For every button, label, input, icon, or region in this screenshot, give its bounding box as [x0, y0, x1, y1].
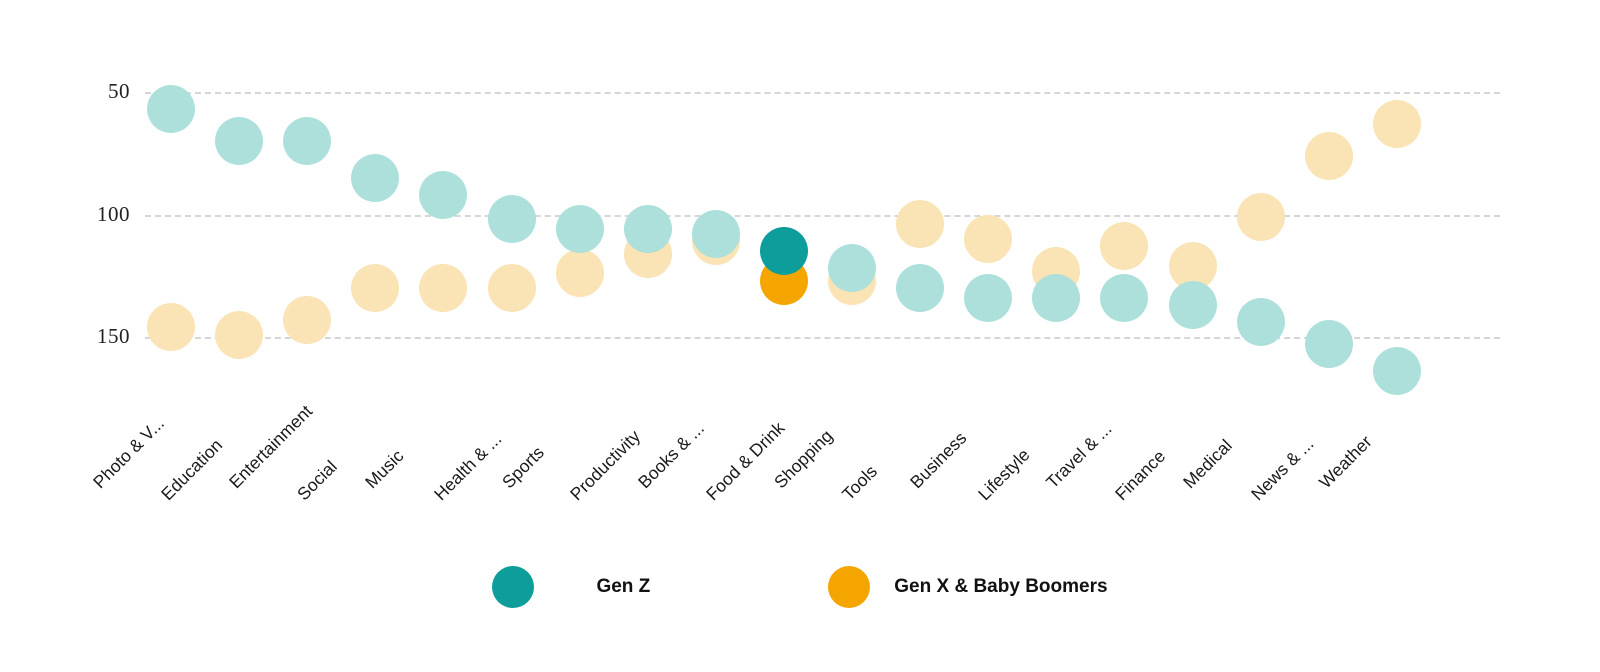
data-point-bubble[interactable] — [488, 264, 536, 312]
x-axis-tick-label: News & ... — [1247, 434, 1318, 505]
gridline — [145, 337, 1500, 339]
data-point-bubble[interactable] — [1100, 222, 1148, 270]
legend-swatch-icon — [828, 566, 870, 608]
data-point-bubble[interactable] — [896, 200, 944, 248]
x-axis-tick-label: Productivity — [566, 426, 645, 505]
x-axis-tick-label: Photo & V... — [89, 413, 169, 493]
bubble-chart: 15010050 Photo & V...EducationEntertainm… — [0, 0, 1600, 672]
legend-swatch-icon — [492, 566, 534, 608]
y-axis-tick-label: 100 — [60, 202, 130, 227]
data-point-bubble[interactable] — [1373, 347, 1421, 395]
legend-item-gen-x-baby-boomers[interactable]: Gen X & Baby Boomers — [828, 566, 1107, 608]
x-axis-tick-label: Travel & ... — [1042, 419, 1116, 493]
x-axis-labels: Photo & V...EducationEntertainmentSocial… — [0, 418, 1600, 548]
x-axis-tick-label: Weather — [1315, 431, 1376, 492]
data-point-bubble[interactable] — [1373, 100, 1421, 148]
y-axis-tick-label: 150 — [60, 324, 130, 349]
data-point-bubble[interactable] — [419, 264, 467, 312]
data-point-bubble[interactable] — [1237, 298, 1285, 346]
data-point-bubble[interactable] — [419, 171, 467, 219]
legend-label: Gen Z — [596, 576, 650, 598]
legend-label: Gen X & Baby Boomers — [894, 576, 1107, 598]
data-point-bubble[interactable] — [488, 195, 536, 243]
x-axis-tick-label: Food & Drink — [702, 418, 789, 505]
data-point-bubble[interactable] — [283, 117, 331, 165]
data-point-bubble[interactable] — [964, 215, 1012, 263]
data-point-bubble[interactable] — [692, 210, 740, 258]
data-point-bubble[interactable] — [964, 274, 1012, 322]
data-point-bubble[interactable] — [1100, 274, 1148, 322]
data-point-bubble[interactable] — [215, 311, 263, 359]
x-axis-tick-label: Lifestyle — [974, 445, 1034, 505]
data-point-bubble[interactable] — [215, 117, 263, 165]
x-axis-tick-label: Finance — [1111, 446, 1170, 505]
chart-legend: Gen Z Gen X & Baby Boomers — [0, 552, 1600, 622]
data-point-bubble[interactable] — [624, 205, 672, 253]
gridline — [145, 215, 1500, 217]
data-point-bubble[interactable] — [896, 264, 944, 312]
gridline — [145, 92, 1500, 94]
x-axis-tick-label: Medical — [1179, 435, 1236, 492]
data-point-bubble[interactable] — [147, 85, 195, 133]
data-point-bubble[interactable] — [351, 264, 399, 312]
data-point-bubble[interactable] — [1237, 193, 1285, 241]
data-point-bubble[interactable] — [556, 249, 604, 297]
x-axis-tick-label: Business — [906, 428, 971, 493]
data-point-bubble[interactable] — [283, 296, 331, 344]
x-axis-tick-label: Education — [157, 435, 227, 505]
data-point-bubble[interactable] — [760, 227, 808, 275]
data-point-bubble[interactable] — [351, 154, 399, 202]
plot-area: 15010050 — [0, 0, 1600, 420]
data-point-bubble[interactable] — [1305, 132, 1353, 180]
legend-item-gen-z[interactable]: Gen Z — [492, 566, 650, 608]
x-axis-tick-label: Social — [293, 456, 342, 505]
x-axis-tick-label: Sports — [498, 442, 549, 493]
data-point-bubble[interactable] — [1305, 320, 1353, 368]
x-axis-tick-label: Health & ... — [430, 429, 506, 505]
x-axis-tick-label: Music — [361, 446, 408, 493]
data-point-bubble[interactable] — [1169, 281, 1217, 329]
data-point-bubble[interactable] — [556, 205, 604, 253]
x-axis-tick-label: Tools — [838, 461, 882, 505]
x-axis-tick-label: Books & ... — [634, 418, 709, 493]
data-point-bubble[interactable] — [1032, 274, 1080, 322]
y-axis-tick-label: 50 — [60, 79, 130, 104]
data-point-bubble[interactable] — [147, 303, 195, 351]
